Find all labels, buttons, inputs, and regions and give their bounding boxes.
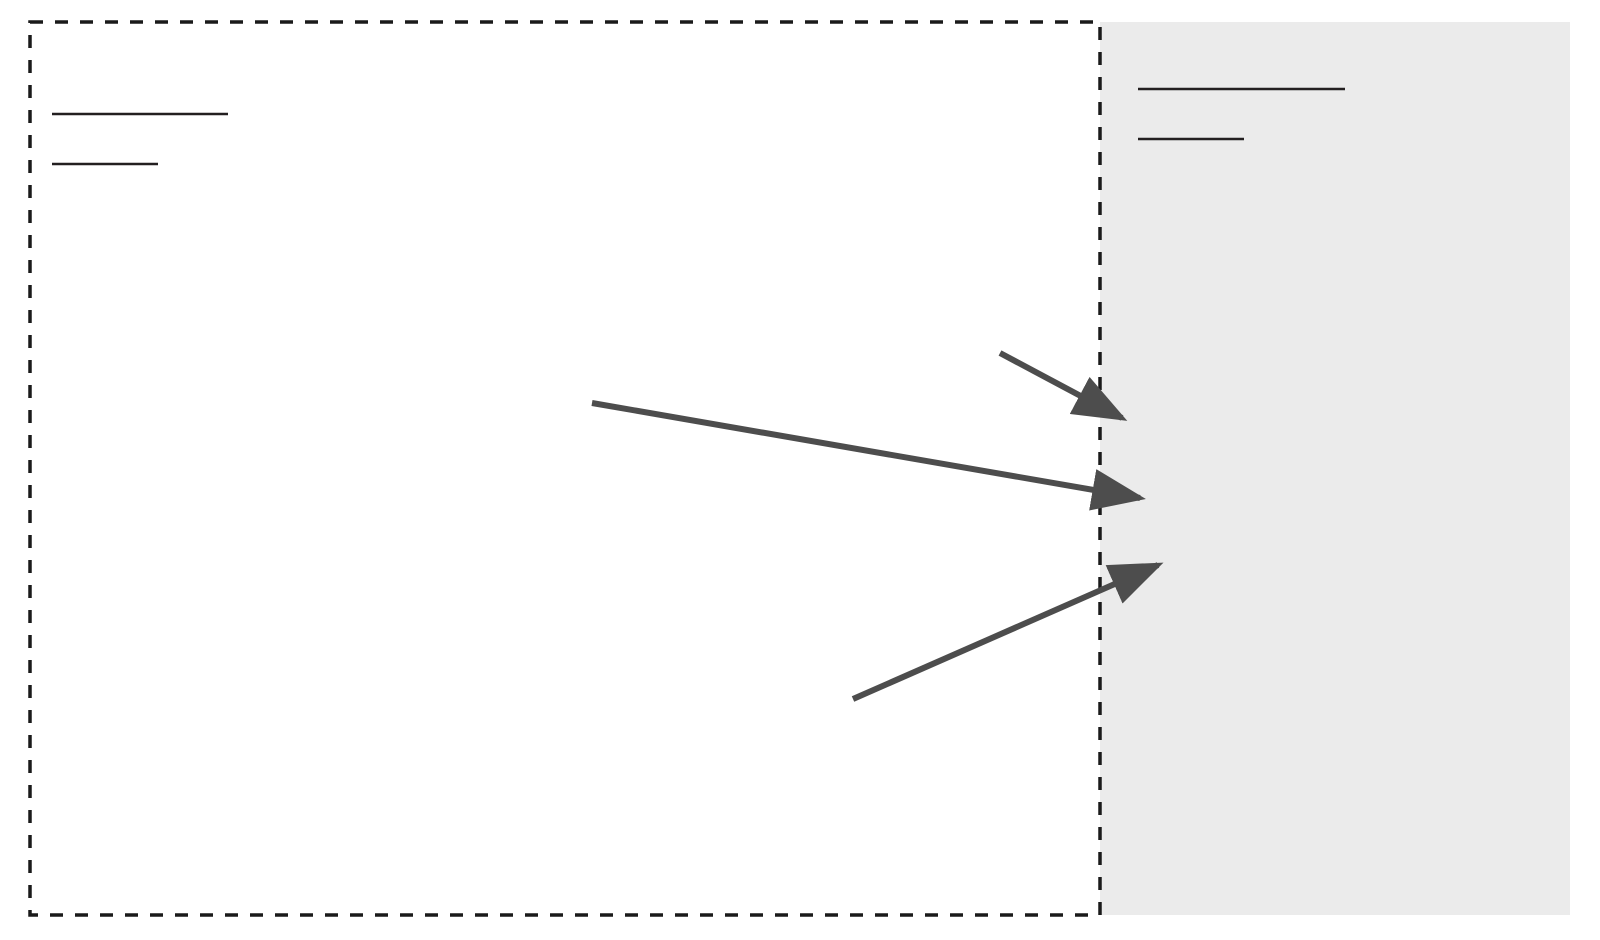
consensus-layer-panel: [1100, 22, 1570, 915]
connection-arrows: [592, 353, 1158, 699]
oasis-architecture-diagram: [0, 0, 1600, 940]
diagram-canvas: [0, 0, 1600, 940]
arrow-confidential-to-consensus: [592, 403, 1140, 498]
paratime-layer-title: [52, 114, 228, 164]
paratime-layer-boundary: [30, 22, 1100, 915]
